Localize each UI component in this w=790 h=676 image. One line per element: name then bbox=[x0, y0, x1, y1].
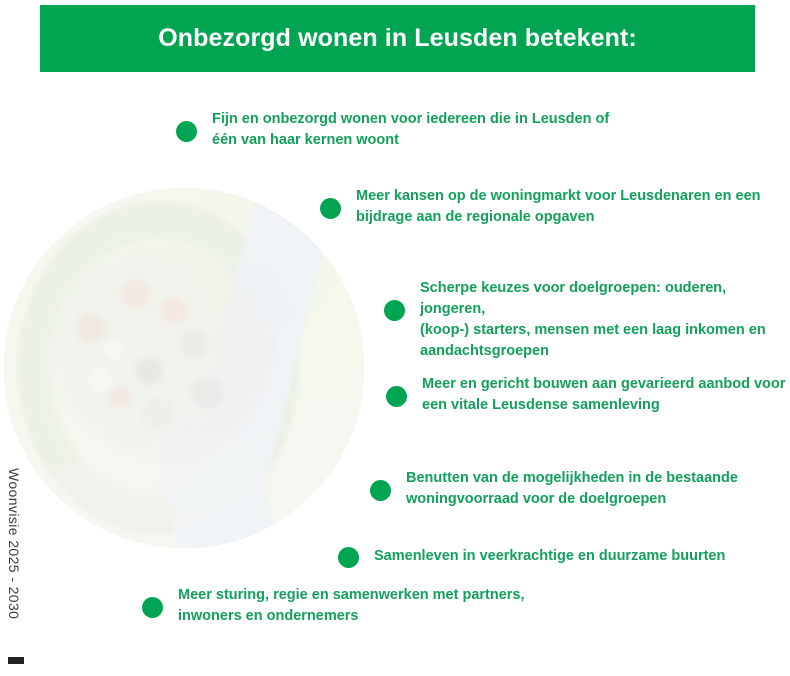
list-item-label: Benutten van de mogelijkheden in de best… bbox=[406, 468, 738, 510]
header-banner: Onbezorgd wonen in Leusden betekent: bbox=[40, 5, 755, 72]
bullet-dot-icon bbox=[176, 121, 197, 142]
list-item: Meer kansen op de woningmarkt voor Leusd… bbox=[320, 186, 761, 228]
bullet-dot-icon bbox=[338, 547, 359, 568]
village-aerial-photo bbox=[4, 188, 364, 548]
list-item: Samenleven in veerkrachtige en duurzame … bbox=[338, 546, 725, 568]
document-side-label: Woonvisie 2025 - 2030 bbox=[2, 468, 24, 648]
list-item: Meer en gericht bouwen aan gevarieerd aa… bbox=[386, 374, 785, 416]
bullet-dot-icon bbox=[320, 198, 341, 219]
list-item-label: Scherpe keuzes voor doelgroepen: ouderen… bbox=[420, 278, 790, 362]
page-marker bbox=[8, 657, 24, 664]
list-item-label: Meer kansen op de woningmarkt voor Leusd… bbox=[356, 186, 761, 228]
list-item: Scherpe keuzes voor doelgroepen: ouderen… bbox=[384, 278, 790, 362]
bullet-dot-icon bbox=[384, 300, 405, 321]
list-item: Fijn en onbezorgd wonen voor iedereen di… bbox=[176, 109, 609, 151]
page-title: Onbezorgd wonen in Leusden betekent: bbox=[158, 24, 637, 53]
list-item-label: Samenleven in veerkrachtige en duurzame … bbox=[374, 546, 725, 567]
bullet-dot-icon bbox=[386, 386, 407, 407]
bullet-dot-icon bbox=[142, 597, 163, 618]
list-item-label: Meer en gericht bouwen aan gevarieerd aa… bbox=[422, 374, 785, 416]
photo-fade-overlay bbox=[4, 188, 364, 548]
side-label-text: Woonvisie 2025 - 2030 bbox=[6, 468, 22, 619]
list-item: Benutten van de mogelijkheden in de best… bbox=[370, 468, 738, 510]
list-item: Meer sturing, regie en samenwerken met p… bbox=[142, 585, 525, 627]
bullet-dot-icon bbox=[370, 480, 391, 501]
list-item-label: Fijn en onbezorgd wonen voor iedereen di… bbox=[212, 109, 609, 151]
list-item-label: Meer sturing, regie en samenwerken met p… bbox=[178, 585, 525, 627]
